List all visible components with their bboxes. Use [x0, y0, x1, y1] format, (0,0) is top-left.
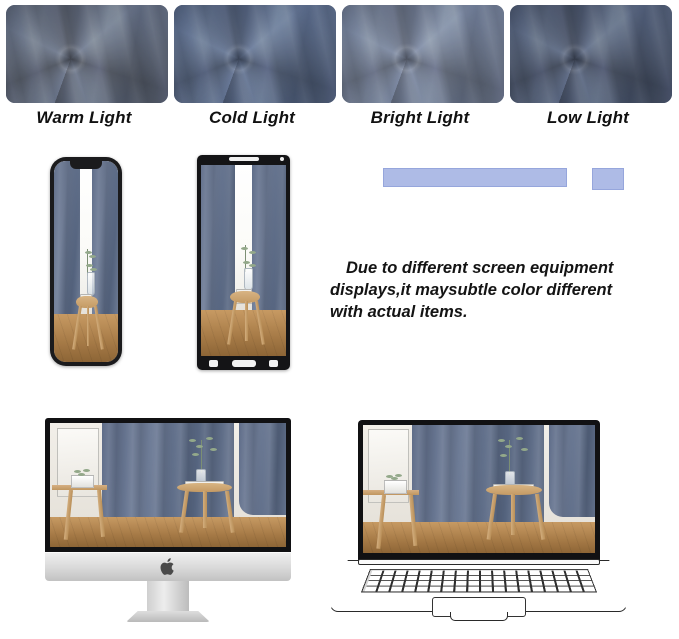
- android-phone-mockup[interactable]: [197, 155, 290, 370]
- scene-plant-pot: [71, 475, 94, 488]
- scene-stool-leg: [87, 306, 90, 346]
- laptop-screen: [363, 425, 595, 553]
- swatch-label-warm-light: Warm Light: [0, 108, 168, 128]
- fabric-swatch-cold-light[interactable]: [174, 5, 336, 103]
- curtain-room-scene: [201, 165, 286, 356]
- iphone-screen: [54, 161, 118, 362]
- swatch-label-bright-light: Bright Light: [336, 108, 504, 128]
- laptop-keyboard[interactable]: [361, 569, 597, 592]
- keyboard-row: [364, 587, 596, 593]
- laptop-lid: [358, 420, 600, 560]
- fabric-tint-layer: [342, 5, 504, 103]
- scene-floor: [201, 310, 286, 356]
- fabric-label-row: Warm Light Cold Light Bright Light Low L…: [0, 108, 679, 134]
- fabric-swatch-warm-light[interactable]: [6, 5, 168, 103]
- color-disclaimer-text: Due to different screen equipment displa…: [330, 258, 642, 323]
- imac-desktop-mockup[interactable]: [45, 418, 291, 623]
- scene-floor: [363, 522, 595, 553]
- laptop-mockup[interactable]: [330, 420, 627, 634]
- laptop-front-lip: [450, 612, 508, 621]
- imac-stand-foot: [126, 611, 210, 622]
- scene-leaf: [249, 251, 256, 254]
- android-back-button-icon[interactable]: [209, 360, 218, 367]
- scene-leaf: [206, 437, 213, 440]
- imac-stand-neck: [147, 581, 189, 611]
- curtain-room-scene: [363, 425, 595, 553]
- android-navigation-bar[interactable]: [197, 358, 290, 369]
- fabric-tint-layer: [6, 5, 168, 103]
- scene-leaf: [83, 469, 90, 472]
- earpiece-speaker-icon: [229, 157, 259, 161]
- scene-curtain-main: [412, 425, 544, 530]
- android-screen: [201, 165, 286, 356]
- scene-floor: [50, 517, 286, 547]
- curtain-room-scene: [54, 161, 118, 362]
- scene-leaf: [243, 261, 250, 264]
- scene-plant-pot: [384, 480, 407, 494]
- apple-logo-icon: [159, 557, 177, 577]
- scene-vase: [87, 272, 95, 296]
- imac-screen: [50, 423, 286, 547]
- color-bar-wide: [383, 168, 567, 187]
- scene-vase: [244, 268, 253, 291]
- scene-leaf: [86, 264, 93, 267]
- iphone-notch-icon: [70, 161, 102, 169]
- imac-chin: [45, 552, 291, 581]
- front-camera-icon: [280, 157, 284, 161]
- laptop-hinge: [358, 559, 600, 565]
- scene-leaf: [78, 473, 85, 476]
- fabric-swatch-row: [0, 5, 679, 103]
- scene-stool-leg: [511, 494, 515, 535]
- imac-bezel: [45, 418, 291, 552]
- scene-curtain-far-right: [239, 423, 286, 515]
- fabric-swatch-bright-light[interactable]: [342, 5, 504, 103]
- android-recents-button-icon[interactable]: [269, 360, 278, 367]
- android-home-button-icon[interactable]: [232, 360, 256, 367]
- scene-leaf: [498, 439, 505, 442]
- fabric-tint-layer: [174, 5, 336, 103]
- scene-leaf: [192, 453, 199, 456]
- scene-leaf: [521, 448, 528, 451]
- iphone-mockup[interactable]: [50, 157, 122, 366]
- scene-leaf: [90, 268, 97, 271]
- scene-curtain-far-right: [549, 425, 595, 517]
- scene-stool-leg: [245, 301, 248, 341]
- curtain-room-scene: [50, 423, 286, 547]
- swatch-label-low-light: Low Light: [504, 108, 672, 128]
- scene-leaf: [395, 474, 402, 477]
- scene-stool-leg: [203, 491, 207, 528]
- fabric-swatch-low-light[interactable]: [510, 5, 672, 103]
- color-bar-small: [592, 168, 624, 190]
- swatch-label-cold-light: Cold Light: [168, 108, 336, 128]
- scene-curtain-main: [102, 423, 234, 525]
- scene-leaf: [516, 437, 523, 440]
- fabric-tint-layer: [510, 5, 672, 103]
